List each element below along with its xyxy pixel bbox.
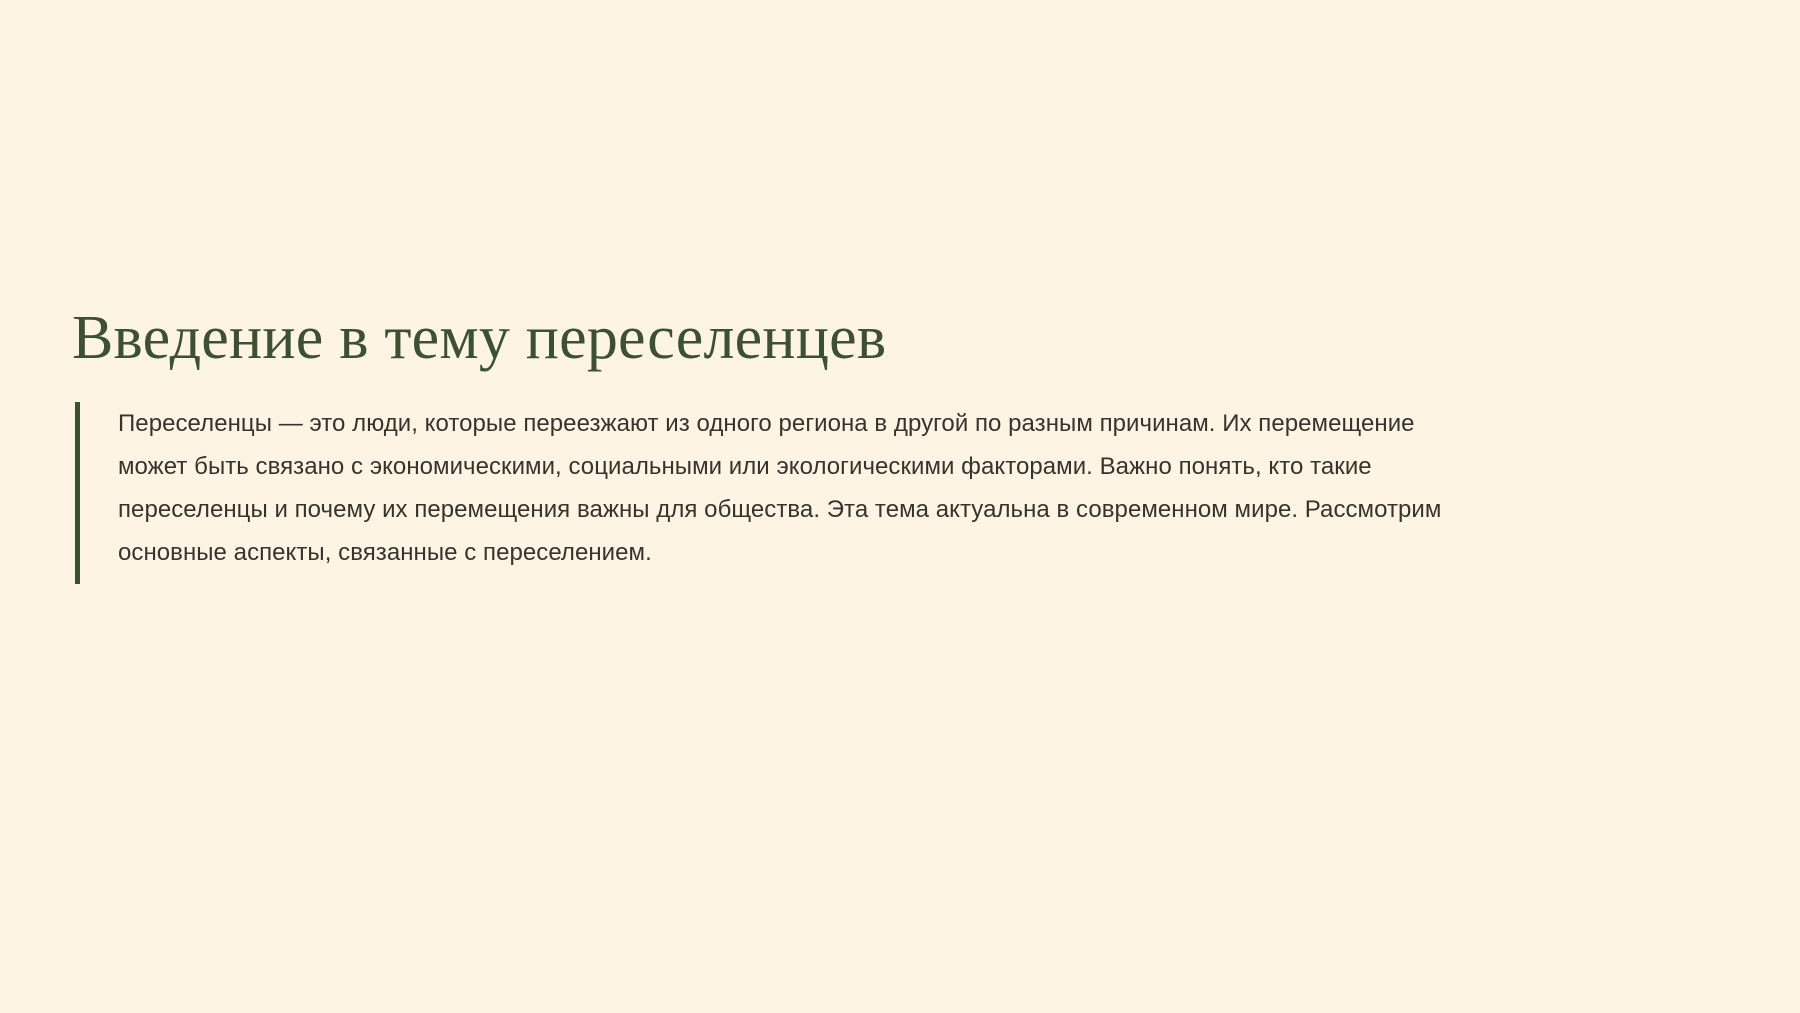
- body-paragraph: Переселенцы — это люди, которые переезжа…: [80, 402, 1465, 584]
- page-title: Введение в тему переселенцев: [72, 306, 1472, 372]
- slide-canvas: Введение в тему переселенцев Переселенцы…: [0, 0, 1800, 1013]
- body-block: Переселенцы — это люди, которые переезжа…: [75, 402, 1465, 584]
